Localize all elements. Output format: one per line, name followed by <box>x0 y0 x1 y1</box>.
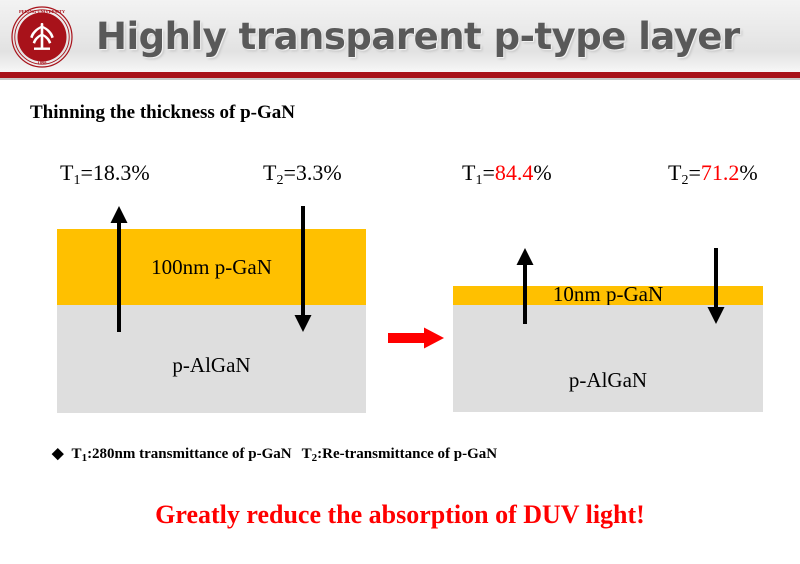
label-right-t1-unit: % <box>533 160 551 185</box>
label-right-t2: T2=71.2% <box>668 160 758 186</box>
label-left-t1-value: 18.3 <box>93 160 132 185</box>
arrow-up-icon <box>110 206 128 332</box>
slide-header: PEKING UNIVERSITY 1898 Highly transparen… <box>0 0 800 72</box>
label-right-t1-subscript: 1 <box>475 173 482 188</box>
label-left-t1: T1=18.3% <box>60 160 150 186</box>
layer-p-algan-left: p-AlGaN <box>57 305 366 413</box>
layer-p-gan-left-label: 100nm p-GaN <box>151 255 272 279</box>
footnote-t2-subscript: 2 <box>312 452 318 464</box>
label-right-t2-equals: = <box>688 160 700 185</box>
footnote-legend: ◆T1:280nm transmittance of p-GaNT2:Re-tr… <box>52 444 497 463</box>
arrow-down-icon <box>294 206 312 332</box>
label-left-t2-equals: = <box>283 160 295 185</box>
arrow-up-icon <box>516 248 534 324</box>
footnote-t2-symbol: T <box>302 446 312 462</box>
diamond-bullet-icon: ◆ <box>52 446 64 462</box>
label-right-t2-value: 71.2 <box>701 160 740 185</box>
footnote-t1-symbol: T <box>72 446 82 462</box>
label-left-t1-subscript: 1 <box>73 173 80 188</box>
device-stack-left: 100nm p-GaN p-AlGaN <box>57 229 366 413</box>
layer-p-algan-left-label: p-AlGaN <box>172 353 250 377</box>
arrow-right-icon <box>388 326 444 350</box>
footnote-t2-text: :Re-transmittance of p-GaN <box>317 446 497 462</box>
label-right-t2-unit: % <box>739 160 757 185</box>
label-left-t2-unit: % <box>323 160 341 185</box>
section-subtitle: Thinning the thickness of p-GaN <box>30 102 295 124</box>
label-right-t1-equals: = <box>482 160 494 185</box>
layer-p-gan-right-label: 10nm p-GaN <box>553 282 663 306</box>
label-right-t1-symbol: T <box>462 160 475 185</box>
header-divider-rule <box>0 72 800 78</box>
conclusion-statement: Greatly reduce the absorption of DUV lig… <box>0 500 800 530</box>
label-right-t1-value: 84.4 <box>495 160 534 185</box>
footnote-t1-text: :280nm transmittance of p-GaN <box>87 446 292 462</box>
svg-text:1898: 1898 <box>37 61 47 66</box>
footnote-t1-subscript: 1 <box>82 452 88 464</box>
label-left-t2-value: 3.3 <box>296 160 324 185</box>
label-left-t2-subscript: 2 <box>276 173 283 188</box>
page-title: Highly transparent p-type layer <box>96 8 786 66</box>
label-left-t2: T2=3.3% <box>263 160 342 186</box>
layer-p-gan-left: 100nm p-GaN <box>57 229 366 305</box>
label-right-t2-symbol: T <box>668 160 681 185</box>
label-left-t1-symbol: T <box>60 160 73 185</box>
peking-university-seal-icon: PEKING UNIVERSITY 1898 <box>10 5 74 69</box>
arrow-down-icon <box>707 248 725 324</box>
svg-text:PEKING UNIVERSITY: PEKING UNIVERSITY <box>19 9 66 14</box>
label-left-t2-symbol: T <box>263 160 276 185</box>
label-left-t1-unit: % <box>131 160 149 185</box>
label-right-t1: T1=84.4% <box>462 160 552 186</box>
label-left-t1-equals: = <box>80 160 92 185</box>
layer-p-algan-right-label: p-AlGaN <box>569 368 647 392</box>
label-right-t2-subscript: 2 <box>681 173 688 188</box>
